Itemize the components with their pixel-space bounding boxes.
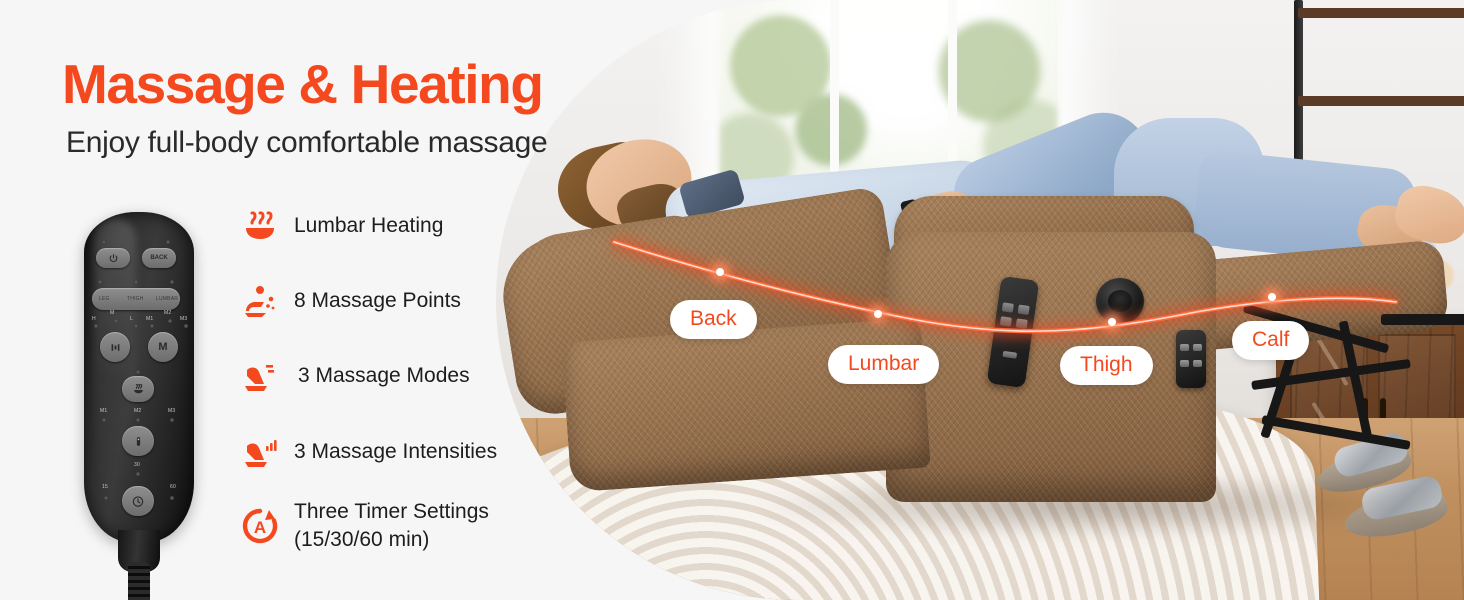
remote-mode-button[interactable]: M bbox=[148, 332, 178, 362]
chair-remote-key[interactable] bbox=[1002, 302, 1014, 312]
callout-back: Back bbox=[670, 300, 757, 339]
feature-label: 3 Massage Intensities bbox=[294, 438, 497, 466]
remote-zone-leg: LEG bbox=[99, 296, 110, 302]
remote-timer-60: 60 bbox=[170, 484, 176, 490]
remote-led bbox=[102, 240, 106, 244]
chair-remote-key[interactable] bbox=[1018, 305, 1030, 315]
mech-bracket bbox=[1381, 314, 1464, 325]
shelf-board bbox=[1298, 8, 1464, 18]
remote-timer-15: 15 bbox=[102, 484, 108, 490]
feature-item-lumbar-heating: Lumbar Heating bbox=[240, 206, 443, 246]
massage-intensity-icon bbox=[240, 432, 280, 472]
remote-intensity-low: L bbox=[130, 316, 133, 322]
remote-heat-m1: M1 bbox=[100, 408, 107, 414]
remote-mode-m2: M2 bbox=[164, 310, 171, 316]
feature-item-massage-intensities: 3 Massage Intensities bbox=[240, 432, 497, 472]
remote-led bbox=[134, 280, 138, 284]
chair-remote-key[interactable] bbox=[1193, 360, 1202, 367]
chair-back-lower bbox=[561, 318, 931, 493]
mech-arm bbox=[1261, 415, 1410, 450]
remote-intensity-high: H bbox=[92, 316, 96, 322]
remote-heat-button[interactable] bbox=[122, 376, 154, 402]
shelf-books bbox=[1326, 0, 1412, 8]
remote-intensity-medium: M bbox=[110, 310, 114, 316]
remote-led bbox=[170, 418, 174, 422]
remote-led bbox=[170, 280, 174, 284]
chair-remote-key[interactable] bbox=[1180, 344, 1189, 351]
remote-heat-m3: M3 bbox=[168, 408, 175, 414]
remote-led bbox=[166, 240, 170, 244]
remote-heat-m2: M2 bbox=[134, 408, 141, 414]
remote-led bbox=[98, 280, 102, 284]
remote-cable bbox=[128, 562, 150, 600]
chair-remote-key[interactable] bbox=[1180, 360, 1189, 367]
svg-text:A: A bbox=[254, 518, 266, 537]
massage-points-icon bbox=[240, 281, 280, 321]
remote-led bbox=[170, 496, 174, 500]
chair-remote-key[interactable] bbox=[1000, 316, 1012, 326]
feature-label-line1: Three Timer Settings bbox=[294, 498, 489, 526]
callout-thigh: Thigh bbox=[1060, 346, 1153, 385]
callout-calf: Calf bbox=[1232, 321, 1309, 360]
feature-item-timer-settings: A Three Timer Settings (15/30/60 min) bbox=[240, 498, 489, 553]
remote-back-button[interactable]: BACK bbox=[142, 248, 176, 268]
feature-label-line2: (15/30/60 min) bbox=[294, 526, 489, 554]
remote-led bbox=[168, 319, 172, 323]
remote-led bbox=[136, 472, 140, 476]
massage-modes-icon bbox=[240, 356, 280, 396]
chair-remote-key[interactable] bbox=[1193, 344, 1202, 351]
shelf-board bbox=[1298, 96, 1464, 106]
remote-timer-button[interactable] bbox=[122, 486, 154, 516]
remote-led bbox=[134, 324, 138, 328]
left-content-panel: Massage & Heating Enjoy full-body comfor… bbox=[0, 0, 560, 600]
remote-play-pause-button[interactable] bbox=[100, 332, 130, 362]
remote-led bbox=[94, 324, 98, 328]
remote-led bbox=[102, 418, 106, 422]
remote-zone-thigh: THIGH bbox=[127, 296, 144, 302]
feature-item-massage-modes: 3 Massage Modes bbox=[240, 356, 470, 396]
remote-zone-selector-bar[interactable]: LEG THIGH LUMBAR bbox=[92, 288, 180, 310]
chair-remote-key[interactable] bbox=[1016, 318, 1028, 328]
chair-remote-key[interactable] bbox=[1002, 351, 1017, 359]
remote-mode-m3: M3 bbox=[180, 316, 187, 322]
heat-waves-icon bbox=[240, 206, 280, 246]
chair-cup-holder-control[interactable] bbox=[1096, 278, 1144, 324]
feature-label-multiline: Three Timer Settings (15/30/60 min) bbox=[294, 498, 489, 553]
page-title: Massage & Heating bbox=[62, 52, 543, 116]
remote-led bbox=[184, 324, 188, 328]
feature-label: 8 Massage Points bbox=[294, 287, 461, 315]
massage-remote-control[interactable]: BACK LEG THIGH LUMBAR H M L M1 M2 M3 M bbox=[78, 212, 200, 600]
remote-timer-30: 30 bbox=[134, 462, 140, 468]
remote-led bbox=[136, 418, 140, 422]
page-subtitle: Enjoy full-body comfortable massage bbox=[66, 126, 547, 160]
callout-lumbar: Lumbar bbox=[828, 345, 939, 384]
remote-zone-lumbar: LUMBAR bbox=[156, 296, 178, 302]
remote-massage-button[interactable] bbox=[122, 426, 154, 456]
product-lifestyle-photo: 13 bbox=[496, 0, 1464, 600]
remote-power-button[interactable] bbox=[96, 248, 130, 268]
feature-item-massage-points: 8 Massage Points bbox=[240, 281, 461, 321]
remote-led bbox=[104, 496, 108, 500]
auto-timer-icon: A bbox=[240, 506, 280, 546]
chair-side-remote-secondary[interactable] bbox=[1176, 330, 1206, 388]
remote-led bbox=[150, 324, 154, 328]
mech-arm bbox=[1251, 359, 1411, 390]
remote-led bbox=[114, 319, 118, 323]
feature-label: Lumbar Heating bbox=[294, 212, 443, 240]
remote-mode-m1: M1 bbox=[146, 316, 153, 322]
feature-label: 3 Massage Modes bbox=[298, 362, 470, 390]
remote-led bbox=[136, 370, 140, 374]
